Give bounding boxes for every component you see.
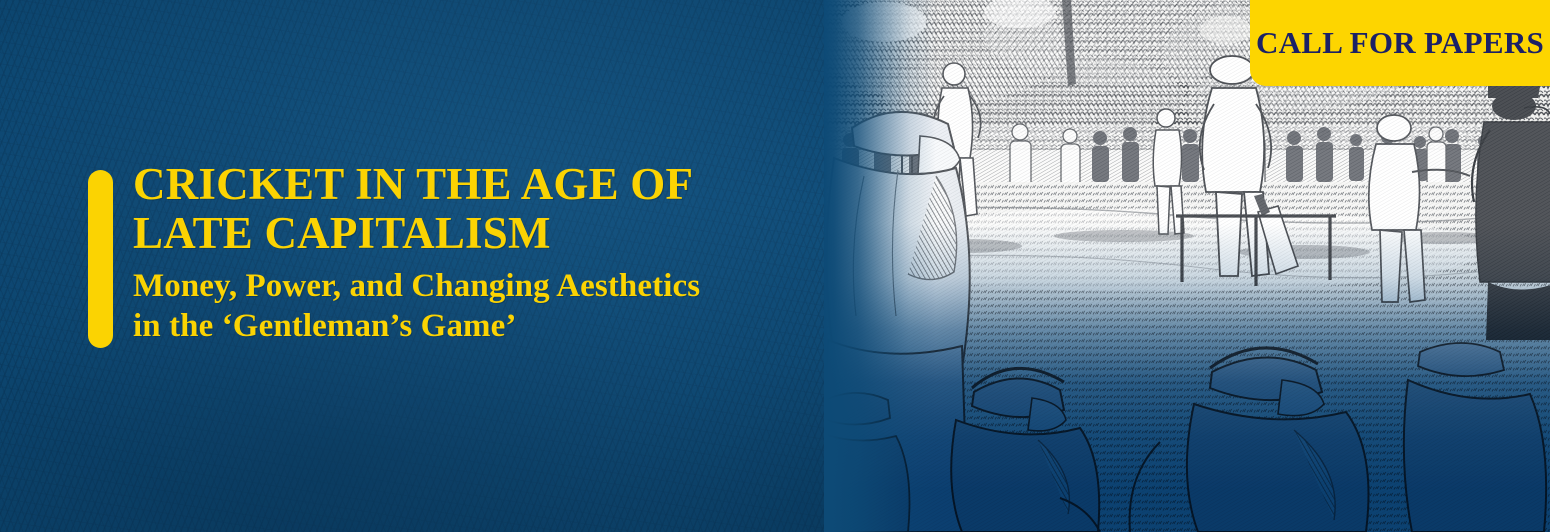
page-title-line-1: CRICKET IN THE AGE OF [133, 160, 833, 209]
page-title-line-2: LATE CAPITALISM [133, 209, 833, 258]
call-for-papers-badge: CALL FOR PAPERS [1250, 0, 1550, 86]
yellow-accent-bar [88, 170, 113, 348]
page-subtitle-line-2: in the ‘Gentleman’s Game’ [133, 306, 833, 346]
page-subtitle: Money, Power, and Changing Aesthetics in… [133, 266, 833, 346]
call-for-papers-banner: CRICKET IN THE AGE OF LATE CAPITALISM Mo… [0, 0, 1550, 532]
headline-block: CRICKET IN THE AGE OF LATE CAPITALISM Mo… [133, 160, 833, 346]
call-for-papers-label: CALL FOR PAPERS [1256, 25, 1544, 61]
page-subtitle-line-1: Money, Power, and Changing Aesthetics [133, 266, 833, 306]
